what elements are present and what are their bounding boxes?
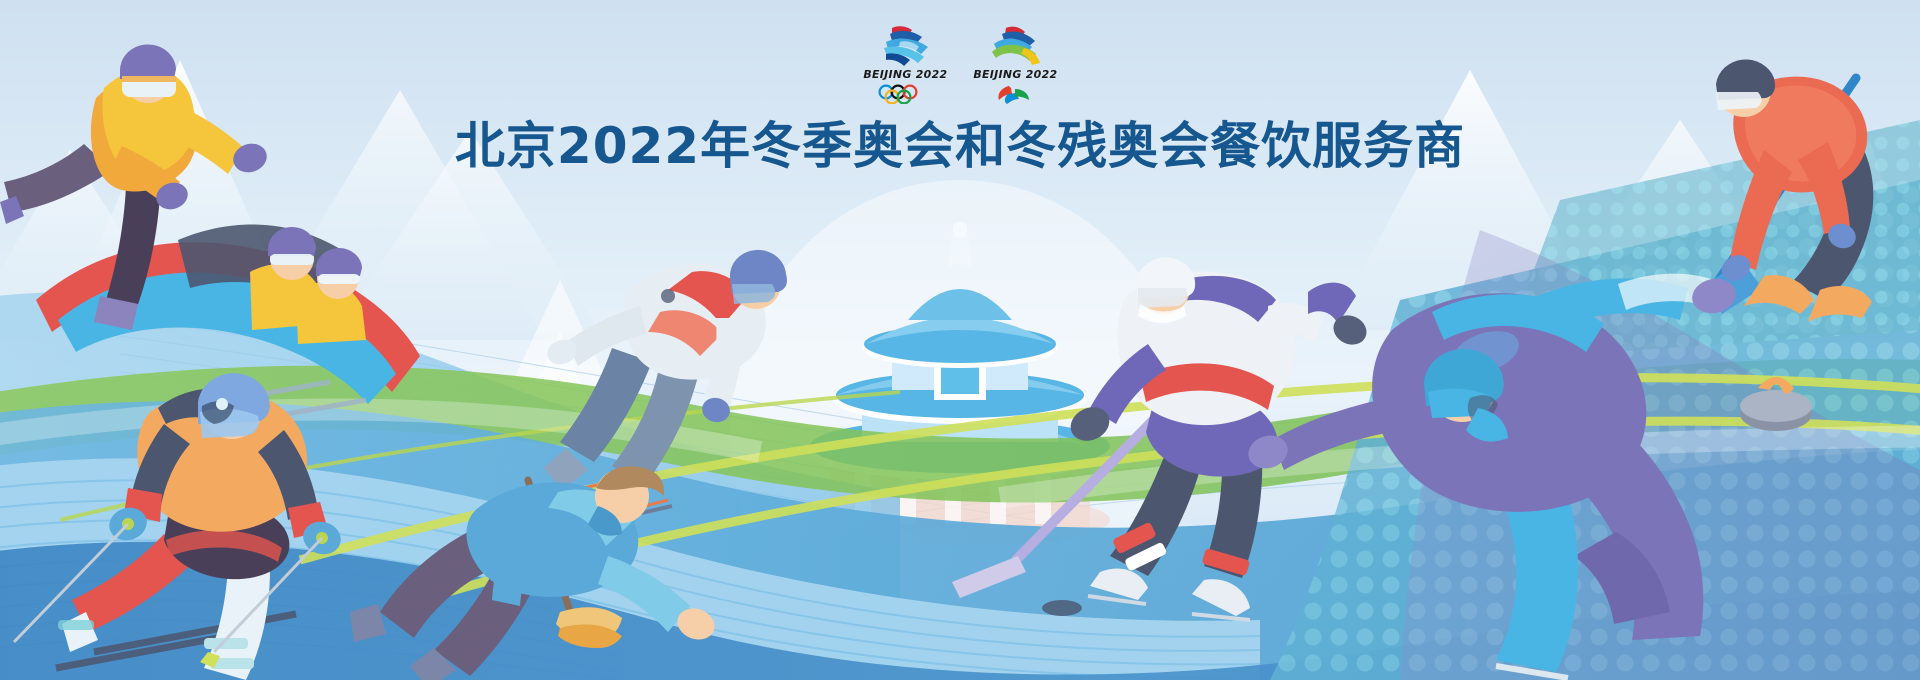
beijing-2022-paralympic-emblem: BEIJING 2022 <box>971 24 1059 104</box>
paralympic-wordmark: BEIJING 2022 <box>973 70 1057 81</box>
winter-dream-emblem-icon <box>870 24 940 68</box>
winter-olympics-catering-banner: BEIJING 2022 BEIJING 2022 <box>0 0 1920 680</box>
olympic-rings-icon <box>877 84 933 104</box>
flight-emblem-icon <box>980 24 1050 68</box>
page-title: 北京2022年冬季奥会和冬残奥会餐饮服务商 <box>0 118 1920 175</box>
beijing-2022-olympic-emblem: BEIJING 2022 <box>861 24 949 104</box>
olympic-wordmark: BEIJING 2022 <box>863 70 947 81</box>
agitos-icon <box>995 84 1035 104</box>
emblem-group: BEIJING 2022 BEIJING 2022 <box>860 24 1060 116</box>
